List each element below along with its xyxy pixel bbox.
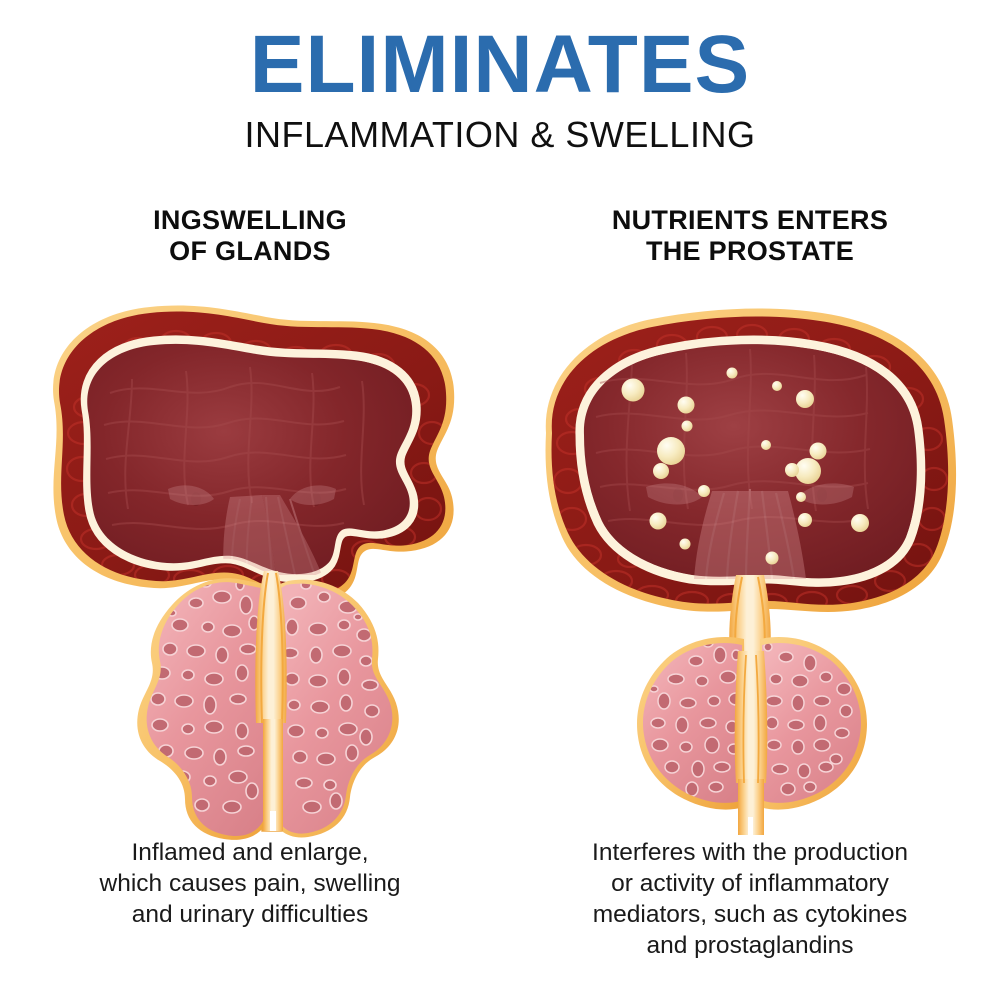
nutrient-bubble: [650, 513, 667, 530]
page-title: ELIMINATES: [0, 26, 1000, 104]
prostate-healthy-left-lobe: [637, 637, 746, 810]
nutrient-bubble: [653, 463, 669, 479]
header: ELIMINATES INFLAMMATION & SWELLING: [0, 0, 1000, 156]
prostate-enlarged-left-lobe: [137, 578, 270, 840]
nutrient-bubble: [727, 368, 738, 379]
comparison-panels: INGSWELLING OF GLANDS: [0, 205, 1000, 1000]
nutrient-bubble: [622, 379, 645, 402]
prostate-enlarged-right-lobe: [272, 578, 399, 837]
bladder-enlarged: [53, 306, 454, 604]
prostate-healthy-right-lobe: [758, 637, 867, 810]
caption-nutrients: Interferes with the production or activi…: [500, 837, 1000, 961]
caption-line: Interferes with the production: [500, 837, 1000, 868]
panel-heading-line2: THE PROSTATE: [500, 236, 1000, 267]
nutrient-bubble: [798, 513, 812, 527]
caption-line: or activity of inflammatory: [500, 868, 1000, 899]
figure-healthy-prostate: [500, 283, 1000, 843]
nutrient-bubble: [851, 514, 869, 532]
caption-inflamed: Inflamed and enlarge, which causes pain,…: [0, 837, 500, 930]
infographic-root: ELIMINATES INFLAMMATION & SWELLING INGSW…: [0, 0, 1000, 1000]
nutrient-bubble: [698, 485, 710, 497]
bladder-healthy: [546, 308, 957, 612]
nutrient-bubble: [680, 539, 691, 550]
nutrient-bubble: [678, 397, 695, 414]
nutrient-bubble: [796, 390, 814, 408]
panel-heading-inflamed: INGSWELLING OF GLANDS: [0, 205, 500, 268]
caption-line: mediators, such as cytokines: [500, 899, 1000, 930]
nutrient-bubble: [682, 421, 693, 432]
urethra-through-prostate-right: [735, 651, 768, 835]
page-subtitle: INFLAMMATION & SWELLING: [0, 114, 1000, 156]
panel-heading-nutrients: NUTRIENTS ENTERS THE PROSTATE: [500, 205, 1000, 268]
caption-line: and urinary difficulties: [0, 899, 500, 930]
nutrient-bubble: [657, 437, 685, 465]
nutrient-bubble: [785, 463, 799, 477]
panel-heading-line1: INGSWELLING: [153, 205, 347, 235]
panel-heading-line2: OF GLANDS: [0, 236, 500, 267]
caption-line: and prostaglandins: [500, 930, 1000, 961]
caption-line: which causes pain, swelling: [0, 868, 500, 899]
nutrient-bubble: [810, 443, 827, 460]
nutrient-bubble: [796, 492, 806, 502]
panel-inflamed: INGSWELLING OF GLANDS: [0, 205, 500, 1000]
caption-line: Inflamed and enlarge,: [0, 837, 500, 868]
panel-nutrients: NUTRIENTS ENTERS THE PROSTATE: [500, 205, 1000, 1000]
panel-heading-line1: NUTRIENTS ENTERS: [612, 205, 888, 235]
nutrient-bubble: [766, 552, 779, 565]
nutrient-bubble: [761, 440, 771, 450]
figure-enlarged-prostate: [0, 283, 500, 843]
nutrient-bubble: [772, 381, 782, 391]
